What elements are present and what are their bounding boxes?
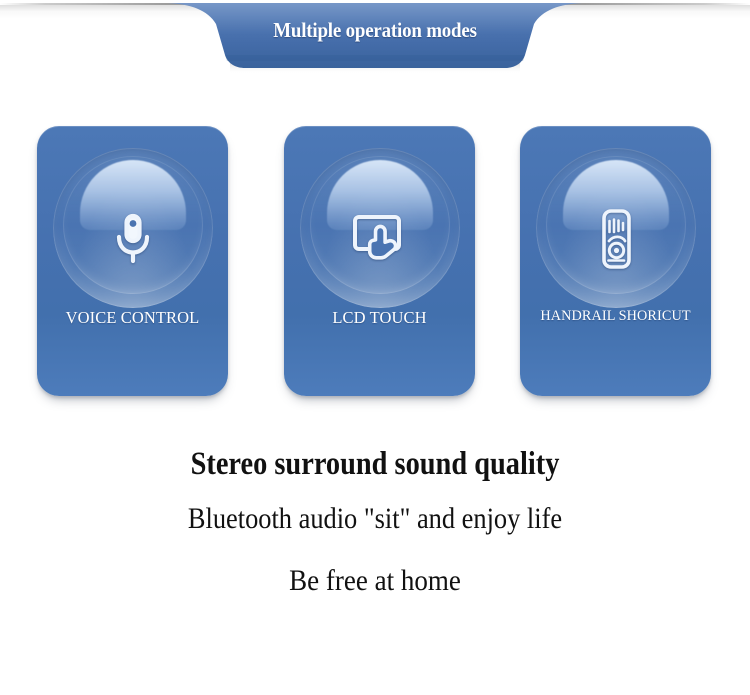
section-banner: Multiple operation modes <box>168 0 582 78</box>
mode-card-label: HANDRAIL SHORICUT <box>525 308 706 325</box>
tagline-secondary: Bluetooth audio "sit" and enjoy life <box>45 488 705 550</box>
microphone-icon <box>94 200 172 278</box>
operation-modes-row: VOICE CONTROL LCD TOUCH <box>0 126 750 411</box>
mode-card-label: VOICE CONTROL <box>37 308 228 328</box>
mode-card-voice-control[interactable]: VOICE CONTROL <box>37 126 228 396</box>
orb-button-handrail-shortcut[interactable] <box>536 148 696 308</box>
orb-button-voice-control[interactable] <box>53 148 213 308</box>
tagline-primary: Stereo surround sound quality <box>53 440 698 488</box>
tagline-block: Stereo surround sound quality Bluetooth … <box>0 440 750 612</box>
handrail-panel-icon <box>577 200 655 278</box>
mode-card-handrail-shortcut[interactable]: HANDRAIL SHORICUT <box>520 126 711 396</box>
mode-card-label: LCD TOUCH <box>284 308 475 328</box>
tagline-tertiary: Be free at home <box>38 550 713 612</box>
orb-button-lcd-touch[interactable] <box>300 148 460 308</box>
banner-shape <box>168 0 582 78</box>
mode-card-lcd-touch[interactable]: LCD TOUCH <box>284 126 475 396</box>
touchscreen-hand-icon <box>341 200 419 278</box>
